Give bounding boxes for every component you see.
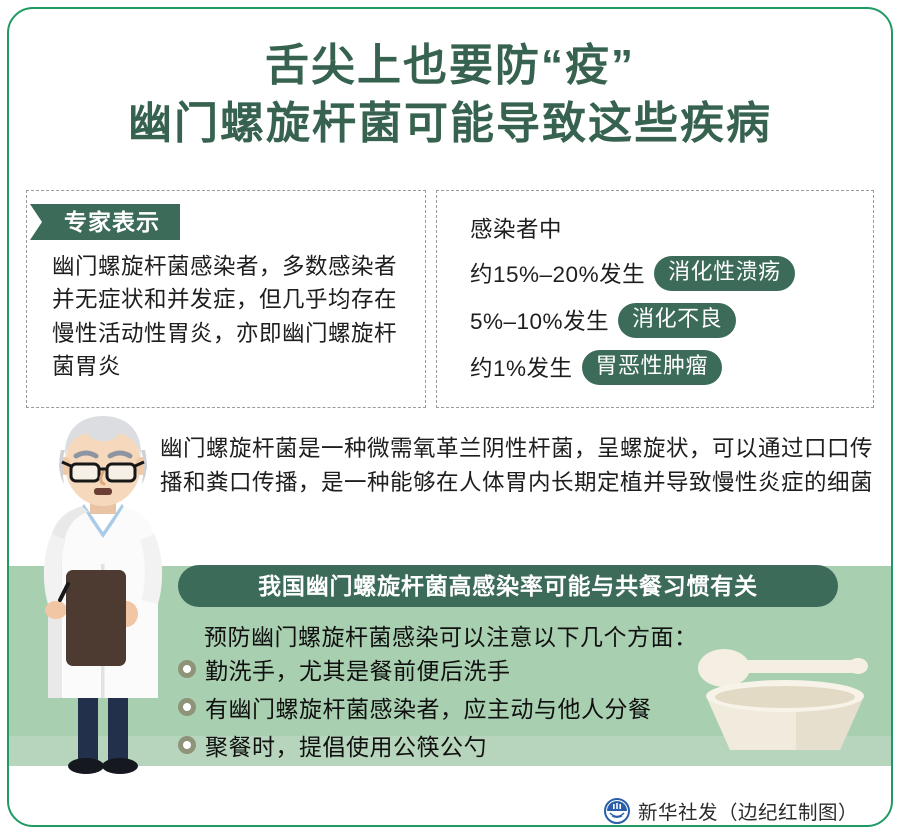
title-line-2: 幽门螺旋杆菌可能导致这些疾病 xyxy=(0,98,900,150)
bowl-icon xyxy=(706,680,864,750)
list-item: 勤洗手，尤其是餐前便后洗手 xyxy=(178,652,511,686)
doctor-glasses-right xyxy=(107,464,135,481)
title-line-1: 舌尖上也要防“疫” xyxy=(0,40,900,92)
list-item: 有幽门螺旋杆菌感染者，应主动与他人分餐 xyxy=(178,690,652,724)
bullet-icon xyxy=(178,660,196,678)
doctor-shoe-left xyxy=(68,758,104,774)
doctor-clipboard xyxy=(66,570,126,666)
infographic-poster: 舌尖上也要防“疫” 幽门螺旋杆菌可能导致这些疾病 专家表示 幽门螺旋杆菌感染者，… xyxy=(0,0,900,834)
statistic-rate: 5%–10%发生 xyxy=(470,304,609,336)
prevention-item-text: 有幽门螺旋杆菌感染者，应主动与他人分餐 xyxy=(205,690,652,724)
doctor-mouth xyxy=(94,488,112,495)
highlight-banner: 我国幽门螺旋杆菌高感染率可能与共餐习惯有关 xyxy=(178,565,838,607)
statistic-rate: 约15%–20%发生 xyxy=(470,257,645,289)
statistic-row: 5%–10%发生 消化不良 xyxy=(470,303,736,338)
disease-badge: 胃恶性肿瘤 xyxy=(582,350,723,385)
list-item: 聚餐时，提倡使用公筷公勺 xyxy=(178,728,487,762)
doctor-illustration xyxy=(22,414,182,782)
footer-text: 新华社发（边纪红制图） xyxy=(638,796,858,825)
doctor-glasses-left xyxy=(71,464,99,481)
doctor-hand-left xyxy=(45,601,67,619)
prevention-item-text: 勤洗手，尤其是餐前便后洗手 xyxy=(205,652,511,686)
bowl-and-spoon-illustration xyxy=(690,646,880,758)
disease-badge: 消化不良 xyxy=(618,303,736,338)
bullet-icon xyxy=(178,698,196,716)
doctor-shoe-right xyxy=(102,758,138,774)
xinhua-logo-icon xyxy=(604,798,630,824)
statistic-row: 约15%–20%发生 消化性溃疡 xyxy=(470,256,795,291)
statistic-rate: 约1%发生 xyxy=(470,351,573,383)
statistic-row: 约1%发生 胃恶性肿瘤 xyxy=(470,350,722,385)
expert-statement-tag: 专家表示 xyxy=(30,204,180,240)
bullet-icon xyxy=(178,736,196,754)
prevention-heading: 预防幽门螺旋杆菌感染可以注意以下几个方面： xyxy=(204,618,698,652)
statistics-heading: 感染者中 xyxy=(470,212,562,244)
expert-statement-text: 幽门螺旋杆菌感染者，多数感染者并无症状和并发症，但几乎均存在慢性活动性胃炎，亦即… xyxy=(52,250,412,383)
footer-credit: 新华社发（边纪红制图） xyxy=(604,796,858,825)
prevention-item-text: 聚餐时，提倡使用公筷公勺 xyxy=(205,728,487,762)
disease-badge: 消化性溃疡 xyxy=(654,256,795,291)
description-paragraph: 幽门螺旋杆菌是一种微需氧革兰阴性杆菌，呈螺旋状，可以通过口口传播和粪口传播，是一… xyxy=(160,432,874,500)
page-title: 舌尖上也要防“疫” 幽门螺旋杆菌可能导致这些疾病 xyxy=(0,40,900,150)
